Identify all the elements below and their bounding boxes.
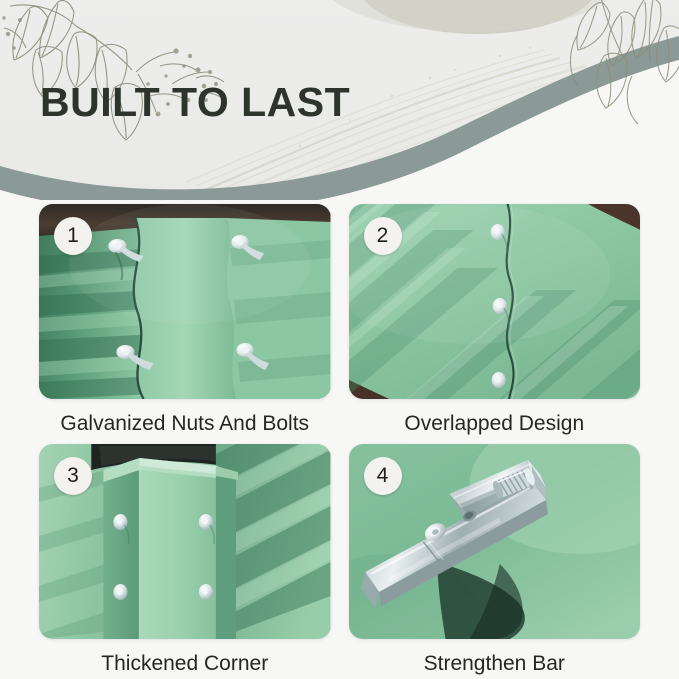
feature-cell-4: 4 Strengthen Bar [349,444,641,679]
feature-photo-1[interactable]: 1 [39,204,331,399]
infographic-page: BUILT TO LAST [0,0,679,679]
panel-number-badge-1: 1 [54,217,92,255]
page-title: BUILT TO LAST [40,79,350,126]
feature-cell-2: 2 Overlapped Design [349,204,641,440]
feature-cell-1: 1 Galvanized Nuts And Bolts [39,204,331,440]
feature-photo-4[interactable]: 4 [349,444,641,639]
panel-caption-4: Strengthen Bar [424,652,565,675]
feature-photo-2[interactable]: 2 [349,204,641,399]
panel-number-badge-2: 2 [364,217,402,255]
feature-grid: 1 Galvanized Nuts And Bolts [0,198,679,679]
header-banner: BUILT TO LAST [0,0,679,200]
panel-number-badge-4: 4 [364,457,402,495]
panel-number-badge-3: 3 [54,457,92,495]
feature-photo-3[interactable]: 3 [39,444,331,639]
feature-cell-3: 3 Thickened Corner [39,444,331,679]
panel-caption-2: Overlapped Design [404,412,584,435]
panel-caption-3: Thickened Corner [101,652,268,675]
panel-caption-1: Galvanized Nuts And Bolts [60,412,309,435]
